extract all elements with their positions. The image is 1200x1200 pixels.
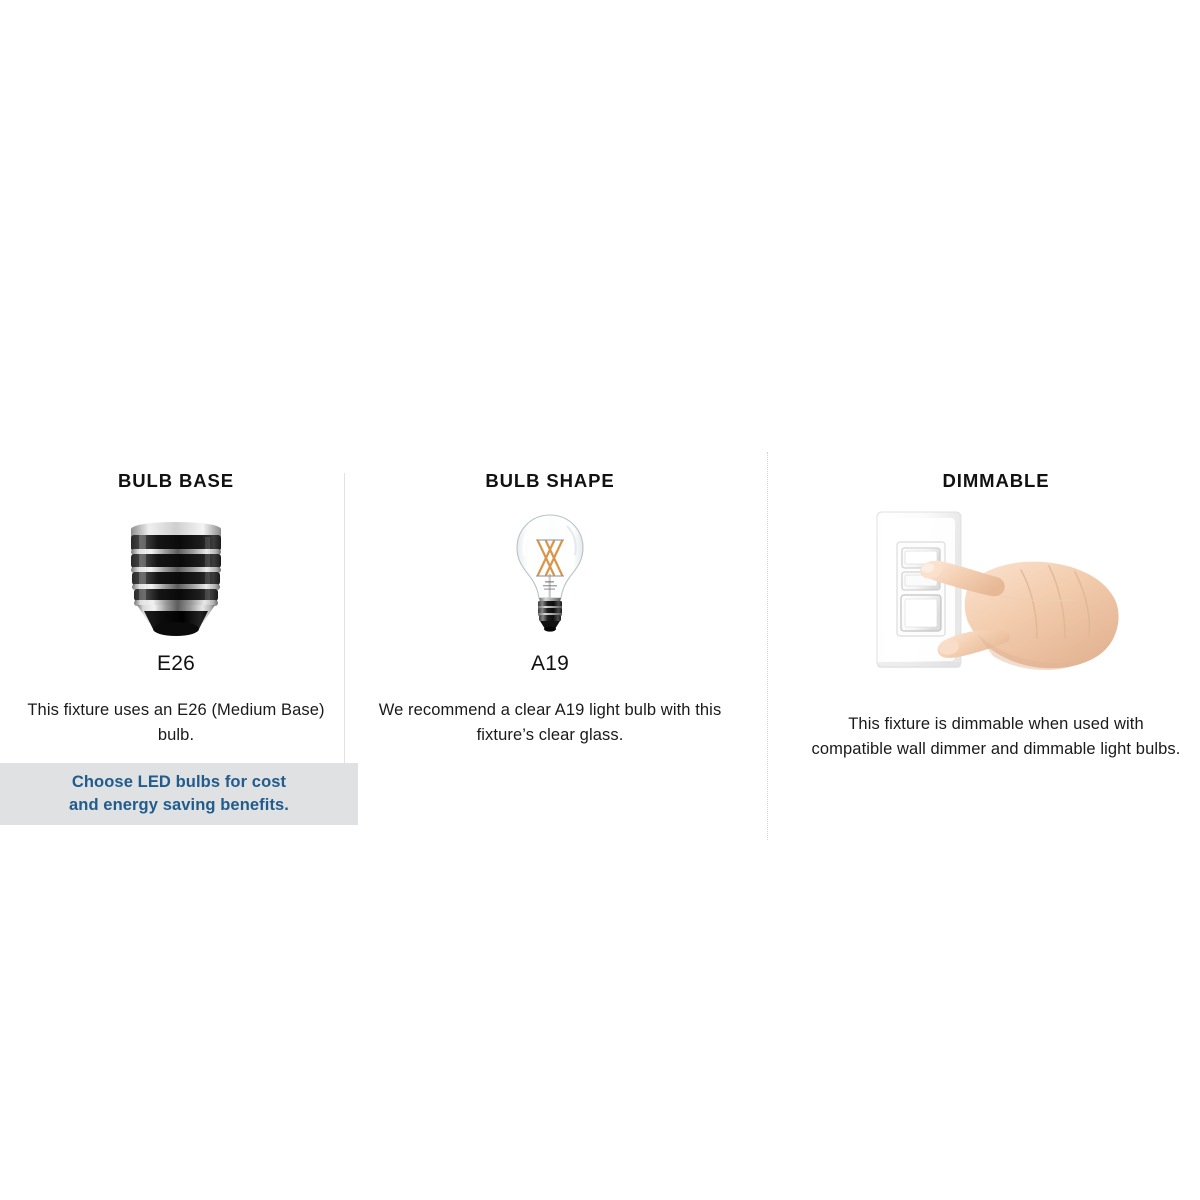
bulb-columns-divider	[344, 473, 345, 770]
bulb-banner-title-bold: BULB	[0, 0, 80, 30]
dimming-banner-title-bold: DIMMING	[24, 31, 153, 61]
bulb-shape-spec-label: A19	[374, 652, 726, 676]
bulb-base-description: This fixture uses an E26 (Medium Base) b…	[18, 698, 334, 748]
a19-bulb-icon	[374, 510, 726, 638]
bulb-shape-heading: BULB SHAPE	[374, 470, 726, 492]
bulb-shape-description: We recommend a clear A19 light bulb with…	[374, 698, 726, 748]
dimmable-column: DIMMABLE	[806, 470, 1186, 762]
bulb-information-banner: BULB INFORMATION	[0, 0, 755, 31]
bulb-base-heading: BULB BASE	[18, 470, 334, 492]
dimming-banner-title-rest: INFORMATION	[153, 31, 363, 61]
infographic-canvas: BULB INFORMATION DIMMING INFORMATION BUL…	[0, 0, 1200, 1200]
bulb-banner-title-rest: INFORMATION	[80, 0, 290, 30]
dimmable-description: This fixture is dimmable when used with …	[806, 712, 1186, 762]
bulb-shape-column: BULB SHAPE	[374, 470, 726, 748]
dimming-banner-title: DIMMING INFORMATION	[24, 31, 425, 62]
bulb-banner-title: BULB INFORMATION	[0, 0, 755, 31]
dimmable-heading: DIMMABLE	[806, 470, 1186, 492]
panel-dotted-divider	[767, 452, 768, 840]
e26-screw-base-icon	[18, 510, 334, 638]
wall-dimmer-switch-with-hand-icon	[806, 504, 1186, 694]
dimming-information-banner: DIMMING INFORMATION	[0, 31, 425, 62]
bulb-base-column: BULB BASE	[18, 470, 334, 748]
led-tip-line-2: and energy saving benefits.	[69, 794, 289, 817]
led-tip-line-1: Choose LED bulbs for cost	[72, 771, 286, 794]
led-tip-callout: Choose LED bulbs for cost and energy sav…	[0, 763, 358, 825]
bulb-base-spec-label: E26	[18, 652, 334, 676]
